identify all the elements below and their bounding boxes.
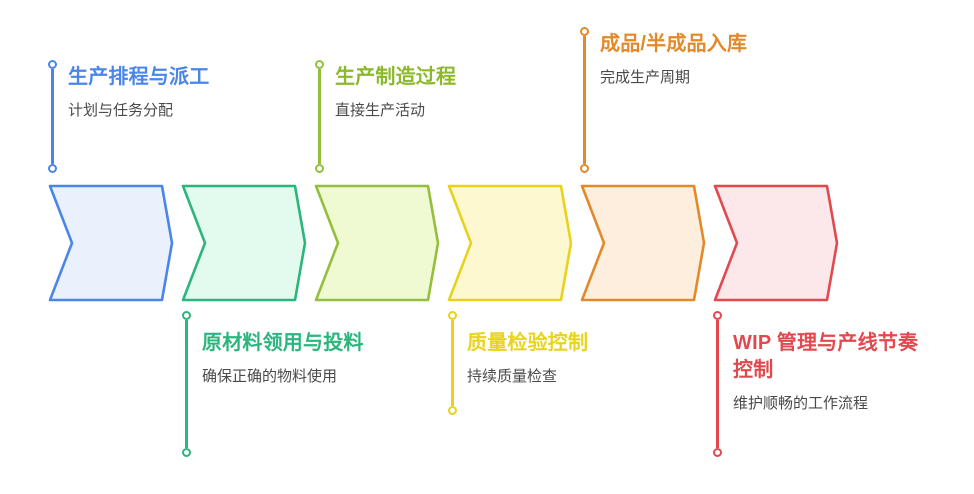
step-title: 成品/半成品入库 <box>600 31 800 58</box>
connector-dot-bottom <box>315 164 324 173</box>
chevron-step-2[interactable] <box>183 186 305 300</box>
label-block-step-4[interactable]: 质量检验控制 持续质量检查 <box>467 330 697 387</box>
connector-line <box>716 320 718 448</box>
connector-line <box>451 320 453 406</box>
connector-step-5 <box>579 27 590 173</box>
step-title: 原材料领用与投料 <box>202 330 434 357</box>
chevron-step-3[interactable] <box>316 186 438 300</box>
connector-dot-top <box>182 311 191 320</box>
connector-line <box>583 36 585 164</box>
connector-step-1 <box>47 60 58 173</box>
step-description: 持续质量检查 <box>467 366 697 387</box>
step-title: 生产排程与派工 <box>68 64 308 91</box>
connector-dot-top <box>315 60 324 69</box>
step-title: 生产制造过程 <box>335 64 565 91</box>
step-description: 直接生产活动 <box>335 100 565 121</box>
step-description: 计划与任务分配 <box>68 100 308 121</box>
connector-dot-top <box>448 311 457 320</box>
chevron-step-4[interactable] <box>449 186 571 300</box>
connector-dot-top <box>48 60 57 69</box>
label-block-step-2[interactable]: 原材料领用与投料 确保正确的物料使用 <box>202 330 434 387</box>
connector-line <box>51 69 53 164</box>
step-title: 质量检验控制 <box>467 330 697 357</box>
label-block-step-5[interactable]: 成品/半成品入库 完成生产周期 <box>600 31 800 88</box>
chevron-step-5[interactable] <box>582 186 704 300</box>
connector-dot-bottom <box>182 448 191 457</box>
chevron-step-1[interactable] <box>50 186 172 300</box>
connector-line <box>318 69 320 164</box>
step-description: 确保正确的物料使用 <box>202 366 434 387</box>
step-description: 完成生产周期 <box>600 67 800 88</box>
chevron-step-6[interactable] <box>715 186 837 300</box>
label-block-step-6[interactable]: WIP 管理与产线节奏控制 维护顺畅的工作流程 <box>733 330 938 414</box>
connector-dot-bottom <box>713 448 722 457</box>
step-title: WIP 管理与产线节奏控制 <box>733 330 938 384</box>
connector-dot-bottom <box>580 164 589 173</box>
step-description: 维护顺畅的工作流程 <box>733 393 938 414</box>
label-block-step-3[interactable]: 生产制造过程 直接生产活动 <box>335 64 565 121</box>
connector-line <box>185 320 187 448</box>
connector-step-3 <box>314 60 325 173</box>
connector-dot-bottom <box>48 164 57 173</box>
connector-dot-bottom <box>448 406 457 415</box>
connector-step-2 <box>181 311 192 457</box>
connector-dot-top <box>713 311 722 320</box>
process-flow-diagram: 生产排程与派工 计划与任务分配 原材料领用与投料 确保正确的物料使用 生产制造过… <box>0 0 974 494</box>
label-block-step-1[interactable]: 生产排程与派工 计划与任务分配 <box>68 64 308 121</box>
connector-step-6 <box>712 311 723 457</box>
connector-step-4 <box>447 311 458 415</box>
connector-dot-top <box>580 27 589 36</box>
